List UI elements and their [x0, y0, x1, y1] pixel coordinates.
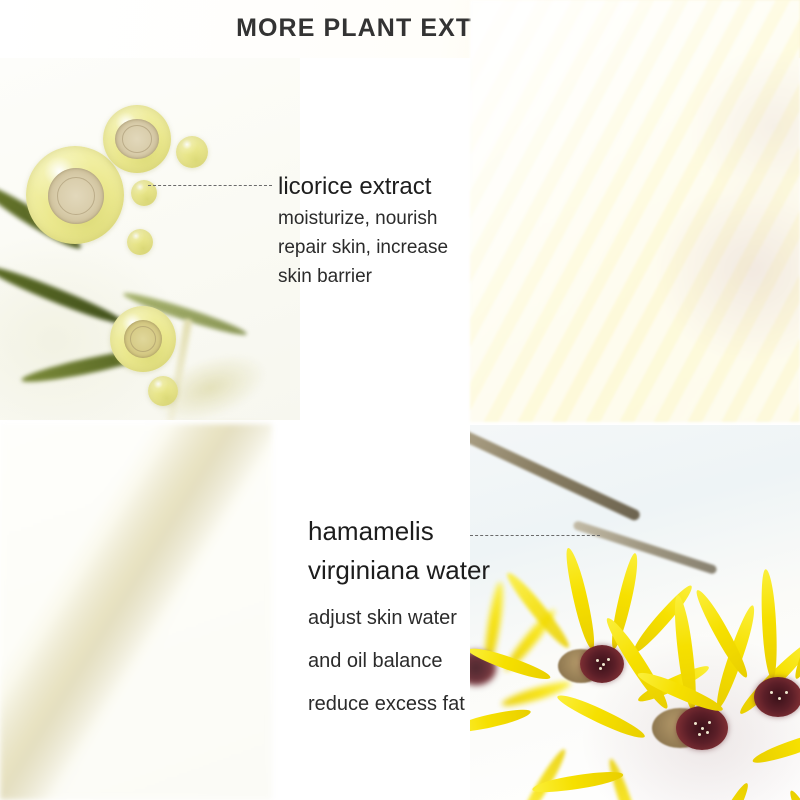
callout-hamamelis-title-line-2: virginiana water — [308, 551, 490, 590]
licorice-root-slice — [48, 168, 104, 224]
white-overlay — [470, 0, 800, 422]
flower-cluster-right — [688, 573, 800, 783]
branch — [470, 425, 642, 522]
licorice-photo — [0, 58, 300, 420]
oil-droplet — [110, 306, 176, 372]
product-infographic: MORE PLANT EXTRACTS — [0, 0, 800, 800]
callout-hamamelis-title-line-1: hamamelis — [308, 512, 490, 551]
callout-licorice-line-1: moisturize, nourish — [278, 206, 448, 231]
oil-droplet — [131, 180, 157, 206]
oil-droplet — [148, 376, 178, 406]
oil-droplet — [103, 105, 171, 173]
flower-center — [754, 677, 800, 717]
callout-hamamelis: hamamelis virginiana water adjust skin w… — [308, 512, 490, 719]
licorice-root-slice — [115, 119, 159, 159]
oil-droplet — [26, 146, 124, 244]
hamamelis-photo — [470, 425, 800, 800]
callout-hamamelis-line-1: adjust skin water — [308, 604, 490, 633]
callout-hamamelis-line-2: and oil balance — [308, 647, 490, 676]
hamamelis-faded-photo — [470, 0, 800, 422]
licorice-root-slice — [124, 320, 162, 358]
callout-hamamelis-line-3: reduce excess fat — [308, 690, 490, 719]
oil-droplet — [176, 136, 208, 168]
callout-licorice: licorice extract moisturize, nourish rep… — [278, 172, 448, 289]
callout-licorice-title: licorice extract — [278, 172, 448, 202]
callout-licorice-line-3: skin barrier — [278, 264, 448, 289]
oil-droplet — [127, 229, 153, 255]
stem-faded-photo — [0, 424, 272, 800]
leader-line-licorice — [148, 185, 272, 186]
plant-stem — [0, 260, 127, 329]
callout-licorice-line-2: repair skin, increase — [278, 235, 448, 260]
